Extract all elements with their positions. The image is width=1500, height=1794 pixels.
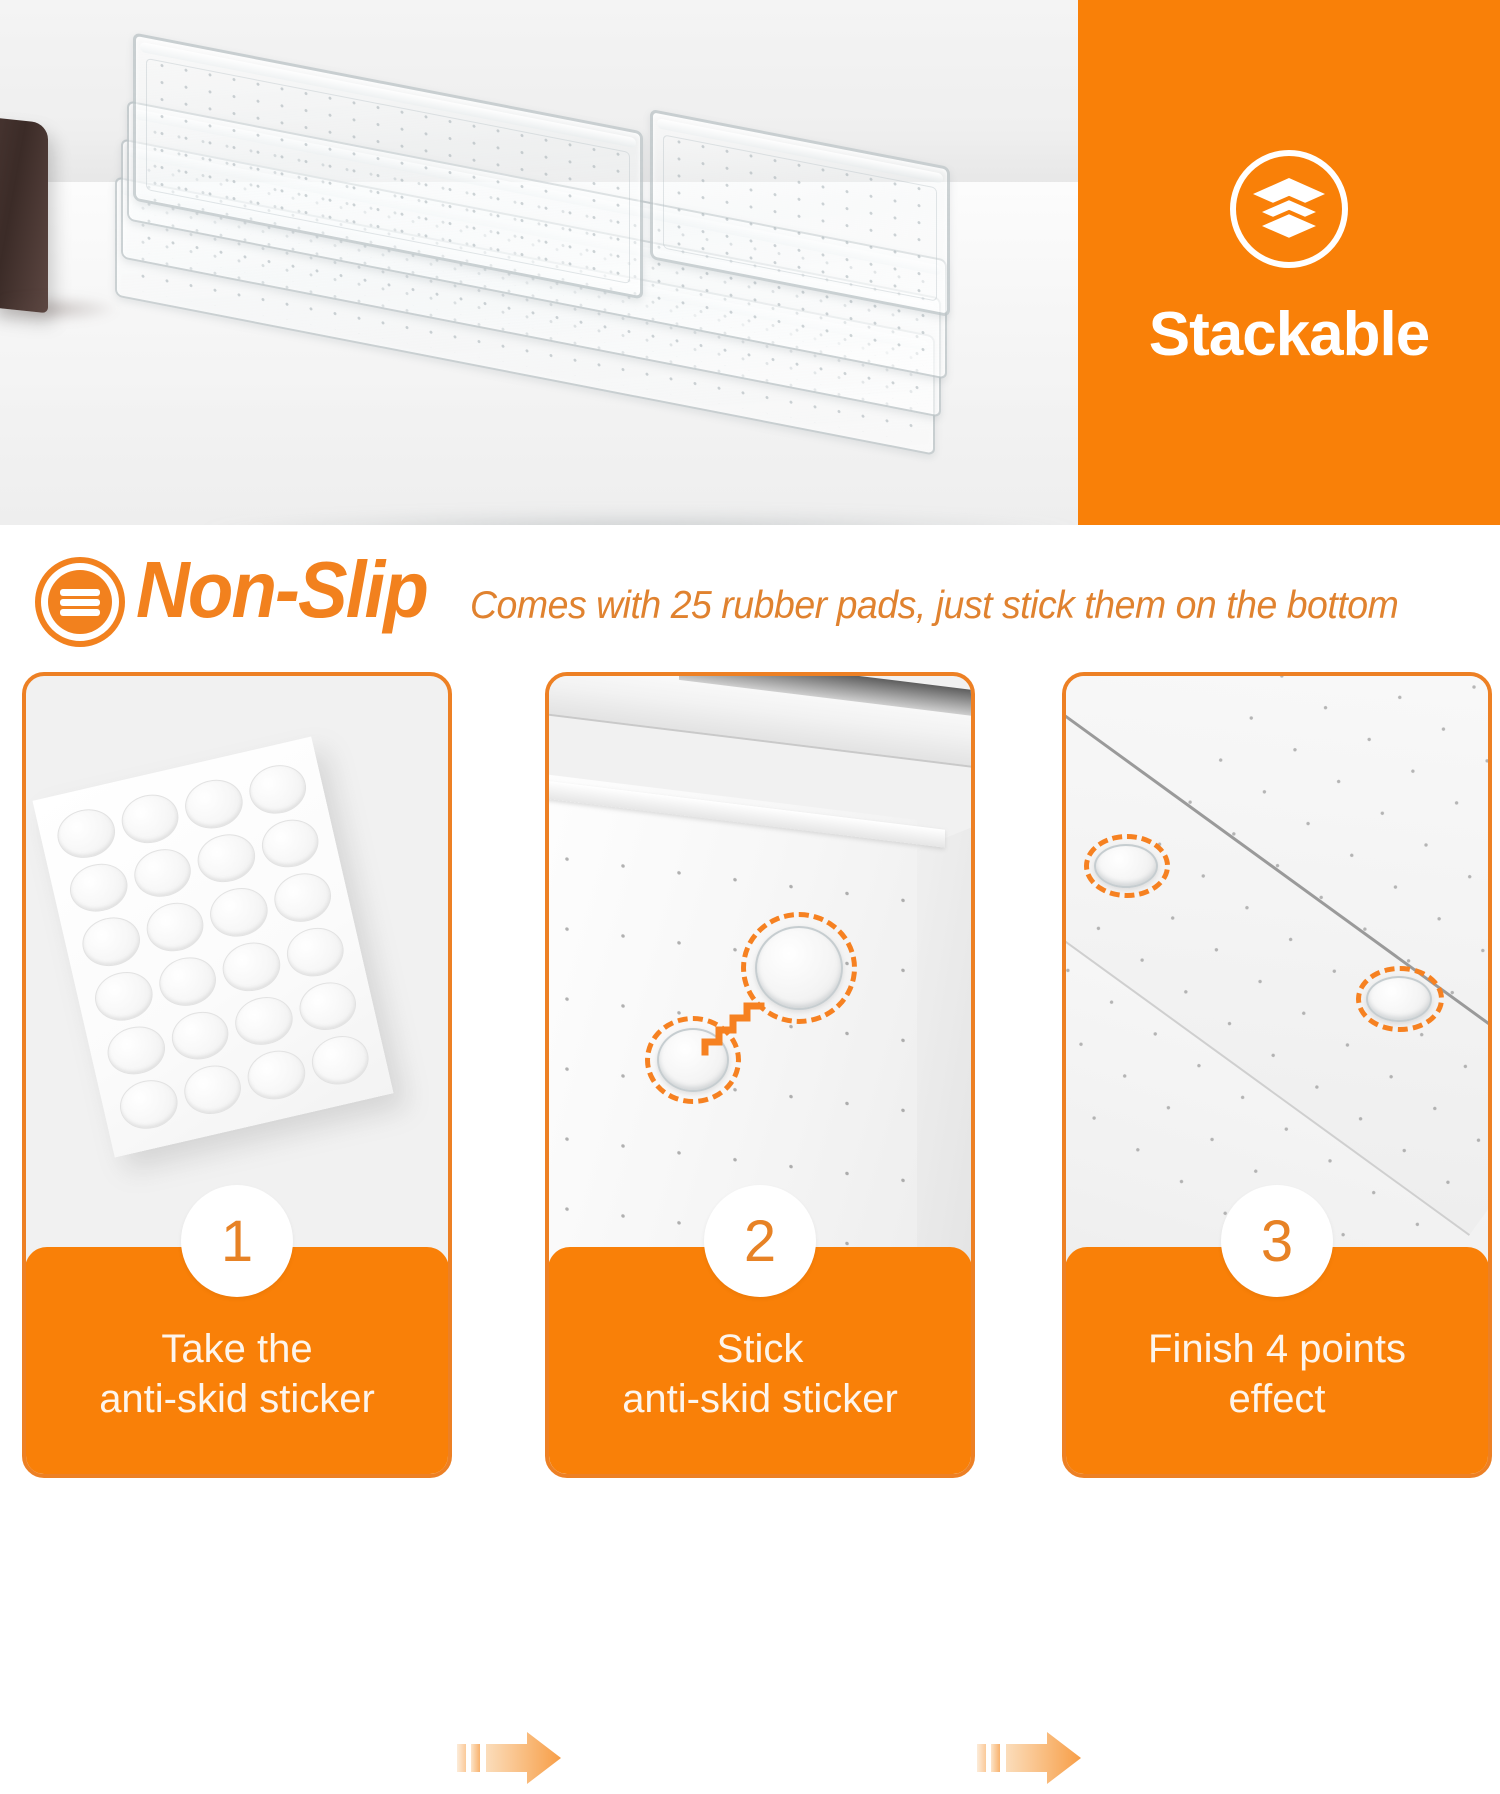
sticker-pad: [230, 991, 297, 1050]
sticker-pad: [179, 1060, 246, 1119]
arrow-right-icon-2: [975, 1722, 1085, 1794]
sticker-pad: [90, 967, 157, 1026]
nonslip-header: Non-Slip Comes with 25 rubber pads, just…: [0, 548, 1500, 648]
step-3-caption: 3 Finish 4 points effect: [1065, 1247, 1489, 1475]
sticker-pad: [244, 760, 311, 819]
step-2-caption: 2 Stick anti-skid sticker: [548, 1247, 972, 1475]
arrow-right-icon-1: [455, 1722, 565, 1794]
layers-icon-badge: [1230, 150, 1348, 268]
dark-object-prop: [0, 117, 48, 314]
sticker-pad: [269, 868, 336, 927]
sticker-pad: [307, 1031, 374, 1090]
step-2-caption-line1: Stick: [703, 1324, 818, 1374]
step-3-caption-line1: Finish 4 points: [1134, 1324, 1420, 1374]
step-1-number-badge: 1: [181, 1185, 293, 1297]
sticker-pad: [205, 883, 272, 942]
sticker-pad: [154, 952, 221, 1011]
non-slip-circle-icon: [34, 556, 126, 648]
sticker-pad: [218, 937, 285, 996]
sticker-pad-grid: [53, 760, 374, 1135]
tray-stack: [105, 60, 1055, 490]
sticker-pad: [282, 922, 349, 981]
step-2-number-badge: 2: [704, 1185, 816, 1297]
sticker-pad: [78, 912, 145, 971]
sticker-pad: [166, 1006, 233, 1065]
sticker-pad: [193, 829, 260, 888]
sticker-pad: [65, 858, 132, 917]
sticker-pad: [243, 1046, 310, 1105]
zigzag-arrow-icon: [699, 996, 769, 1060]
sticker-highlight-ring: [1084, 834, 1170, 898]
sticker-highlight-ring: [1356, 966, 1444, 1032]
sticker-pad: [103, 1021, 170, 1080]
layers-icon: [1251, 176, 1327, 242]
dark-object-shadow: [0, 296, 120, 322]
nonslip-subtitle: Comes with 25 rubber pads, just stick th…: [470, 584, 1398, 628]
sticker-sheet: [32, 737, 393, 1158]
product-photo: [0, 0, 1078, 525]
sticker-pad: [180, 774, 247, 833]
stackable-feature-panel: Stackable: [1078, 0, 1500, 525]
nonslip-title: Non-Slip: [136, 550, 427, 630]
sticker-pad: [116, 789, 183, 848]
step-1-caption-line1: Take the: [147, 1324, 326, 1374]
steps-section: 1 Take the anti-skid sticker: [0, 672, 1500, 1487]
step-1-caption-line2: anti-skid sticker: [85, 1374, 389, 1424]
sticker-pad: [129, 843, 196, 902]
tray-stack-shadow: [200, 512, 1078, 525]
stackable-title: Stackable: [1149, 304, 1430, 366]
sticker-pad: [294, 977, 361, 1036]
step-card-2: 2 Stick anti-skid sticker: [545, 672, 975, 1478]
step-1-caption: 1 Take the anti-skid sticker: [25, 1247, 449, 1475]
step-card-1: 1 Take the anti-skid sticker: [22, 672, 452, 1478]
step-3-number-badge: 3: [1221, 1185, 1333, 1297]
step-card-3: 3 Finish 4 points effect: [1062, 672, 1492, 1478]
sticker-pad: [257, 814, 324, 873]
step-3-caption-line2: effect: [1214, 1374, 1339, 1424]
sticker-pad: [115, 1075, 182, 1134]
sticker-pad: [53, 804, 120, 863]
sticker-pad: [141, 898, 208, 957]
hero-section: Stackable: [0, 0, 1500, 525]
step-2-caption-line2: anti-skid sticker: [608, 1374, 912, 1424]
